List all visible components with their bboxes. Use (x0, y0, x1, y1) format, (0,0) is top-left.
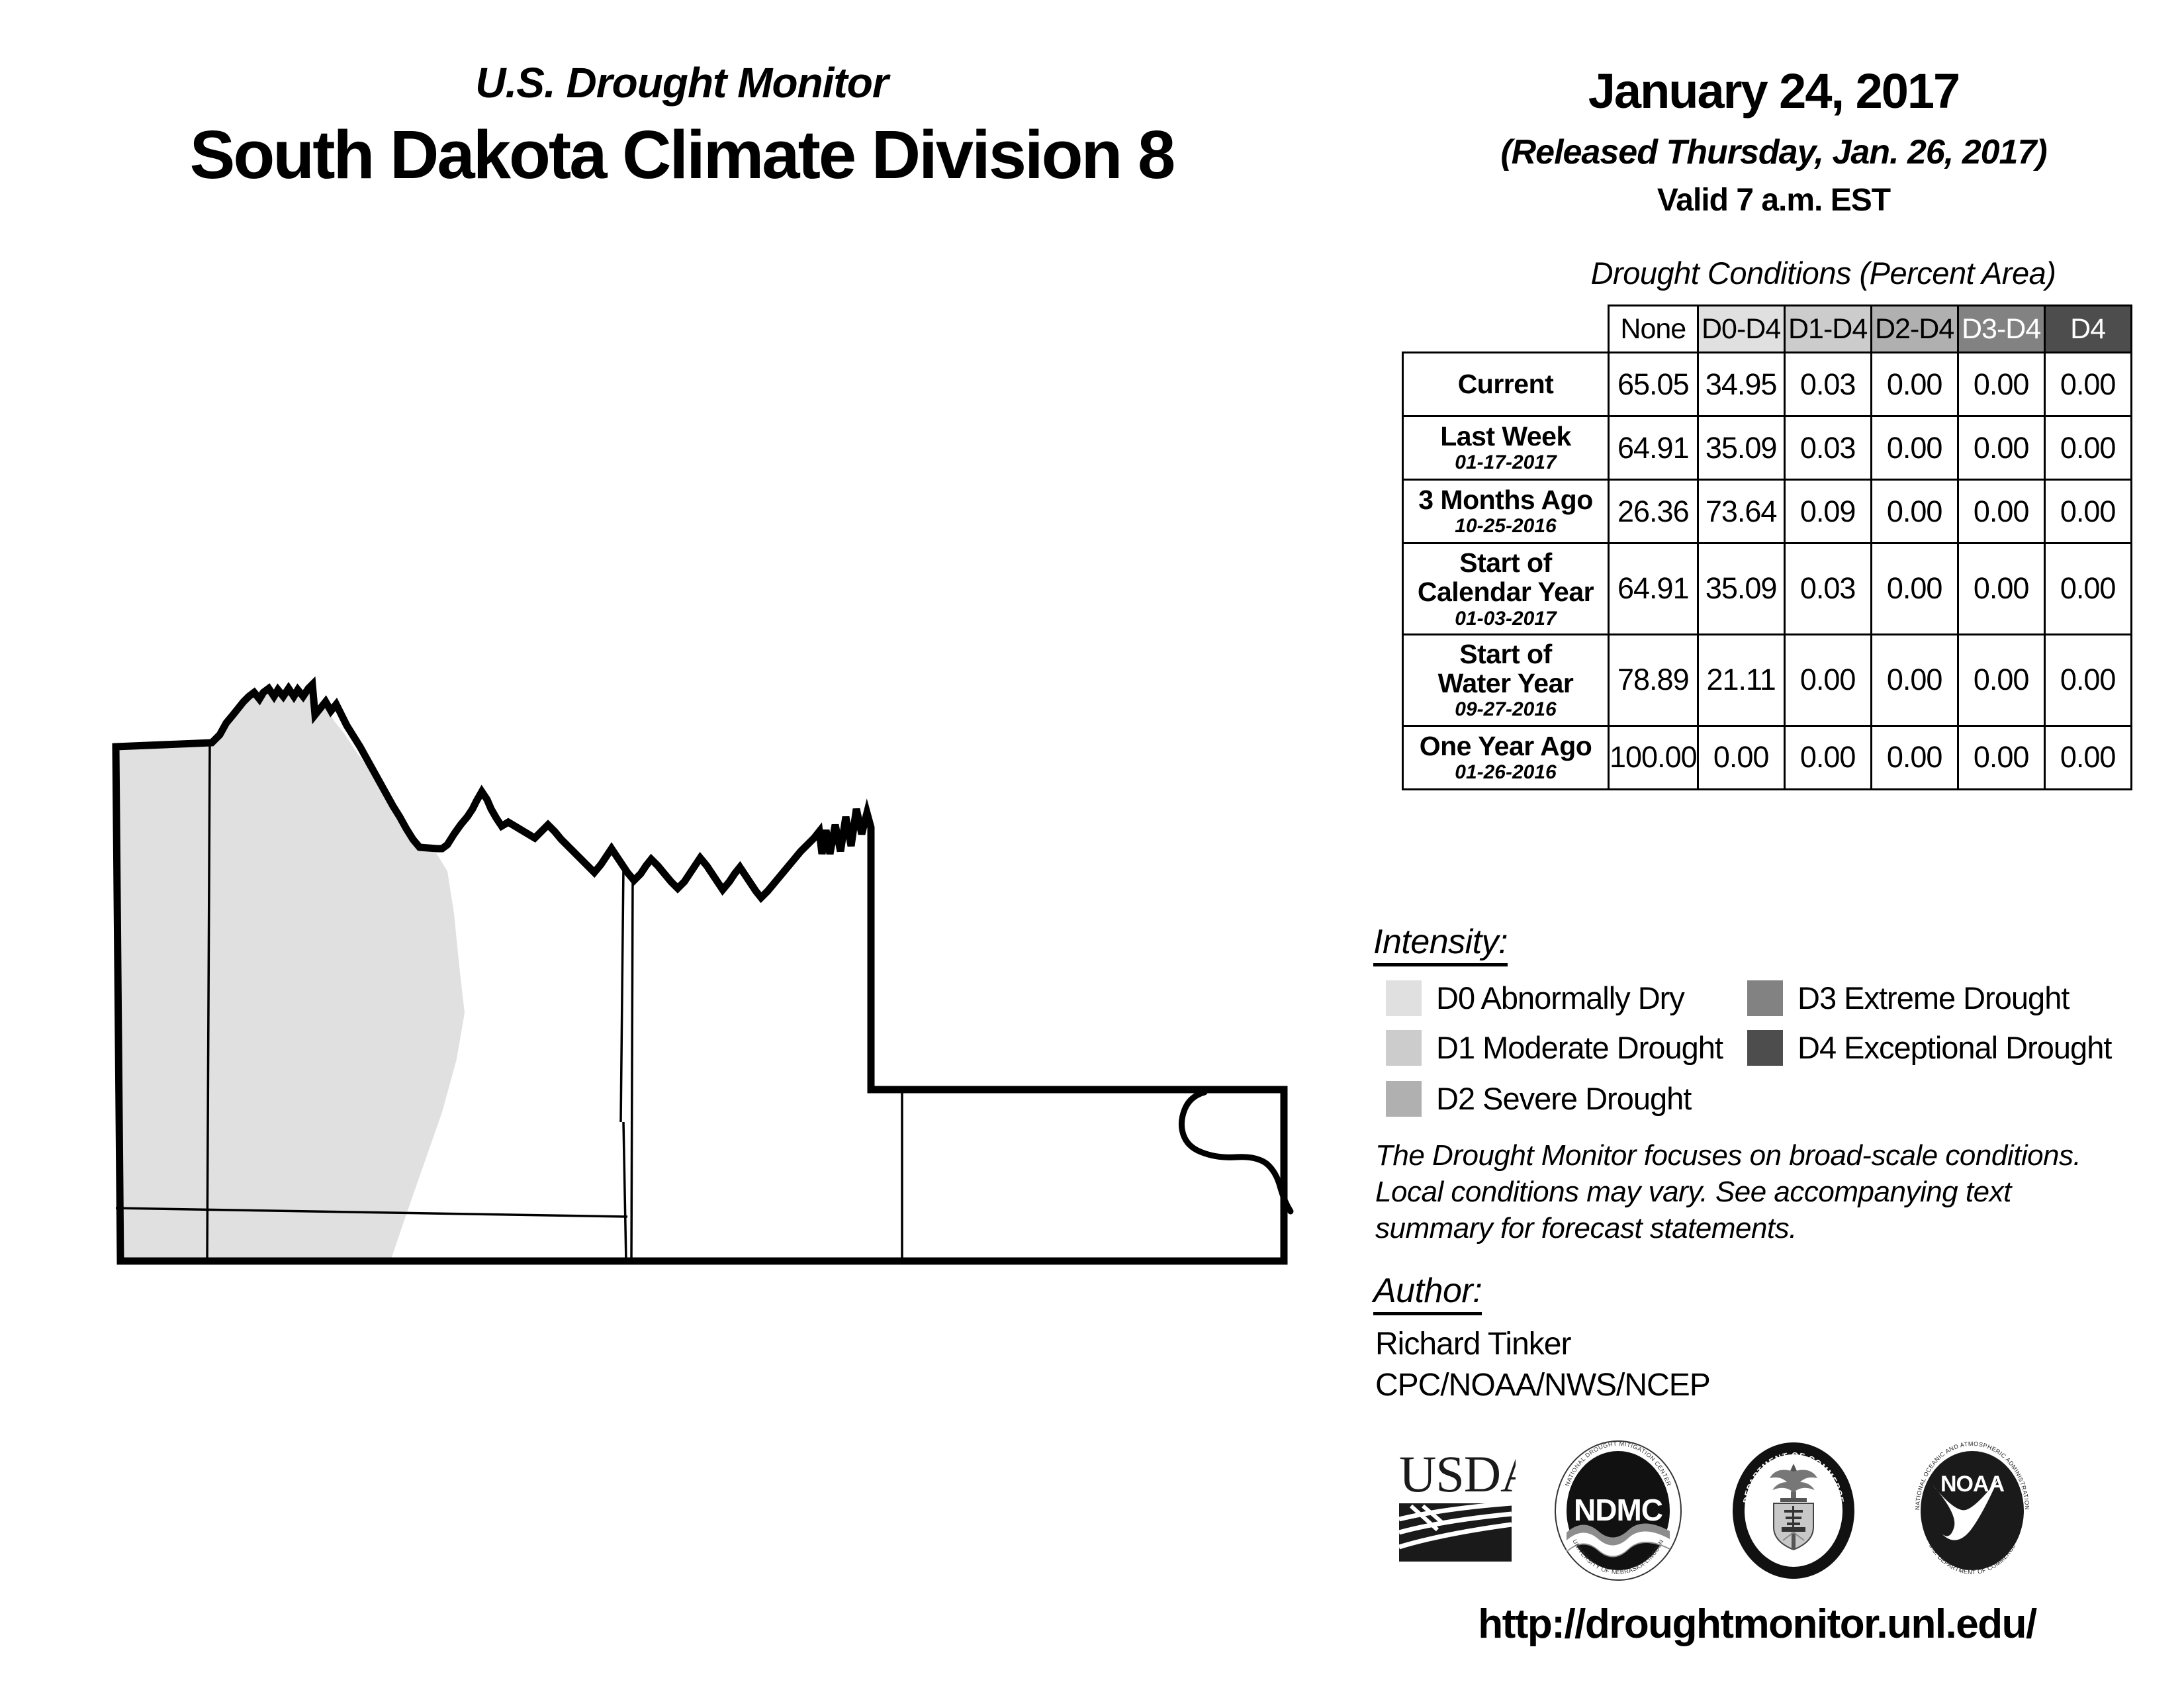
valid-time: Valid 7 a.m. EST (1443, 182, 2105, 218)
drought-map[interactable] (79, 635, 1324, 1271)
cell-r1-c4: 0.00 (1958, 416, 2044, 480)
cell-r2-c2: 0.09 (1784, 480, 1871, 543)
row-date-3: 01-03-2017 (1406, 608, 1605, 630)
usda-logo: USDA (1396, 1440, 1516, 1566)
author-name: Richard Tinker (1375, 1326, 1570, 1362)
svg-text:NOAA: NOAA (1940, 1472, 2005, 1497)
author-heading: Author: (1373, 1271, 1482, 1315)
cell-r1-c2: 0.03 (1784, 416, 1871, 480)
cell-r0-c4: 0.00 (1958, 353, 2044, 416)
cell-r4-c1: 21.11 (1698, 634, 1784, 726)
d0-shaded-region (116, 687, 465, 1261)
legend-label-d4: D4 Exceptional Drought (1797, 1029, 2111, 1066)
drought-monitor-url[interactable]: http://droughtmonitor.unl.edu/ (1377, 1601, 2138, 1648)
cell-r1-c1: 35.09 (1698, 416, 1784, 480)
cell-r3-c1: 35.09 (1698, 543, 1784, 635)
legend-item-d3: D3 Extreme Drought (1747, 980, 2069, 1016)
map-svg (79, 635, 1324, 1271)
cell-r5-c1: 0.00 (1698, 726, 1784, 789)
d0-swatch-icon (1386, 980, 1422, 1016)
cell-r2-c1: 73.64 (1698, 480, 1784, 543)
cell-r0-c2: 0.03 (1784, 353, 1871, 416)
page-subtitle: U.S. Drought Monitor (0, 58, 1363, 107)
cell-r3-c4: 0.00 (1958, 543, 2044, 635)
legend-label-d3: D3 Extreme Drought (1797, 980, 2069, 1016)
row-date-4: 09-27-2016 (1406, 699, 1605, 720)
row-label-1: Last Week01-17-2017 (1403, 416, 1609, 480)
legend-item-d1: D1 Moderate Drought (1386, 1029, 1723, 1066)
cell-r5-c5: 0.00 (2044, 726, 2131, 789)
cell-r4-c3: 0.00 (1871, 634, 1958, 726)
legend-label-d2: D2 Severe Drought (1436, 1080, 1691, 1117)
disclaimer-text: The Drought Monitor focuses on broad-sca… (1375, 1137, 2103, 1246)
table-row: Start ofCalendar Year01-03-201764.9135.0… (1403, 543, 2132, 635)
table-col-header-d1-d4: D1-D4 (1784, 306, 1871, 353)
cell-r2-c5: 0.00 (2044, 480, 2131, 543)
cell-r0-c1: 34.95 (1698, 353, 1784, 416)
table-header: NoneD0-D4D1-D4D2-D4D3-D4D4 (1403, 306, 2132, 353)
release-date: (Released Thursday, Jan. 26, 2017) (1416, 132, 2131, 172)
cell-r5-c4: 0.00 (1958, 726, 2044, 789)
d2-swatch-icon (1386, 1081, 1422, 1117)
table-row: Last Week01-17-201764.9135.090.030.000.0… (1403, 416, 2132, 480)
table-row: Current65.0534.950.030.000.000.00 (1403, 353, 2132, 416)
row-date-1: 01-17-2017 (1406, 452, 1605, 473)
cell-r4-c2: 0.00 (1784, 634, 1871, 726)
row-date-2: 10-25-2016 (1406, 516, 1605, 537)
cell-r4-c0: 78.89 (1609, 634, 1698, 726)
cell-r5-c2: 0.00 (1784, 726, 1871, 789)
row-label-5: One Year Ago01-26-2016 (1403, 726, 1609, 789)
row-label-0: Current (1403, 353, 1609, 416)
cell-r3-c3: 0.00 (1871, 543, 1958, 635)
legend-item-d2: D2 Severe Drought (1386, 1080, 1691, 1117)
legend-label-d1: D1 Moderate Drought (1436, 1029, 1723, 1066)
row-date-5: 01-26-2016 (1406, 762, 1605, 783)
agency-logos: USDA NDMC NATIONAL DROUGHT MITIGATION CE… (1377, 1440, 2138, 1592)
valid-date: January 24, 2017 (1443, 63, 2105, 119)
noaa-logo: NOAA NATIONAL OCEANIC AND ATMOSPHERIC AD… (1906, 1440, 2038, 1582)
table-row: 3 Months Ago10-25-201626.3673.640.090.00… (1403, 480, 2132, 543)
drought-conditions-table: NoneD0-D4D1-D4D2-D4D3-D4D4 Current65.053… (1402, 305, 2132, 790)
svg-text:USDA: USDA (1399, 1445, 1516, 1503)
river-boundary-detail (1181, 1092, 1291, 1211)
row-label-4: Start ofWater Year09-27-2016 (1403, 634, 1609, 726)
intensity-heading: Intensity: (1373, 922, 1508, 966)
d1-swatch-icon (1386, 1030, 1422, 1066)
table-caption: Drought Conditions (Percent Area) (1482, 255, 2164, 291)
table-row: One Year Ago01-26-2016100.000.000.000.00… (1403, 726, 2132, 789)
cell-r1-c3: 0.00 (1871, 416, 1958, 480)
table-row: Start ofWater Year09-27-201678.8921.110.… (1403, 634, 2132, 726)
author-affiliation: CPC/NOAA/NWS/NCEP (1375, 1367, 1710, 1403)
cell-r5-c3: 0.00 (1871, 726, 1958, 789)
table-col-header-none: None (1609, 306, 1698, 353)
table-col-header-d4: D4 (2044, 306, 2131, 353)
cell-r0-c3: 0.00 (1871, 353, 1958, 416)
d3-swatch-icon (1747, 980, 1783, 1016)
cell-r1-c0: 64.91 (1609, 416, 1698, 480)
d4-swatch-icon (1747, 1030, 1783, 1066)
cell-r3-c0: 64.91 (1609, 543, 1698, 635)
table-col-header-d3-d4: D3-D4 (1958, 306, 2044, 353)
row-label-2: 3 Months Ago10-25-2016 (1403, 480, 1609, 543)
cell-r3-c2: 0.03 (1784, 543, 1871, 635)
table-body: Current65.0534.950.030.000.000.00Last We… (1403, 353, 2132, 790)
row-label-3: Start ofCalendar Year01-03-2017 (1403, 543, 1609, 635)
table-col-header-d0-d4: D0-D4 (1698, 306, 1784, 353)
cell-r0-c5: 0.00 (2044, 353, 2131, 416)
table-header-row: NoneD0-D4D1-D4D2-D4D3-D4D4 (1403, 306, 2132, 353)
cell-r1-c5: 0.00 (2044, 416, 2131, 480)
table-corner-cell (1403, 306, 1609, 353)
cell-r2-c0: 26.36 (1609, 480, 1698, 543)
svg-text:NDMC: NDMC (1574, 1493, 1662, 1527)
cell-r2-c4: 0.00 (1958, 480, 2044, 543)
cell-r3-c5: 0.00 (2044, 543, 2131, 635)
legend-item-d4: D4 Exceptional Drought (1747, 1029, 2111, 1066)
table-col-header-d2-d4: D2-D4 (1871, 306, 1958, 353)
cell-r4-c4: 0.00 (1958, 634, 2044, 726)
cell-r5-c0: 100.00 (1609, 726, 1698, 789)
page-title: South Dakota Climate Division 8 (0, 116, 1363, 194)
cell-r2-c3: 0.00 (1871, 480, 1958, 543)
cell-r0-c0: 65.05 (1609, 353, 1698, 416)
department-of-commerce-logo: DEPARTMENT OF COMMERCE UNITED STATES OF … (1727, 1440, 1860, 1582)
cell-r4-c5: 0.00 (2044, 634, 2131, 726)
ndmc-logo: NDMC NATIONAL DROUGHT MITIGATION CENTER … (1552, 1440, 1684, 1582)
legend-label-d0: D0 Abnormally Dry (1436, 980, 1684, 1016)
legend-item-d0: D0 Abnormally Dry (1386, 980, 1684, 1016)
